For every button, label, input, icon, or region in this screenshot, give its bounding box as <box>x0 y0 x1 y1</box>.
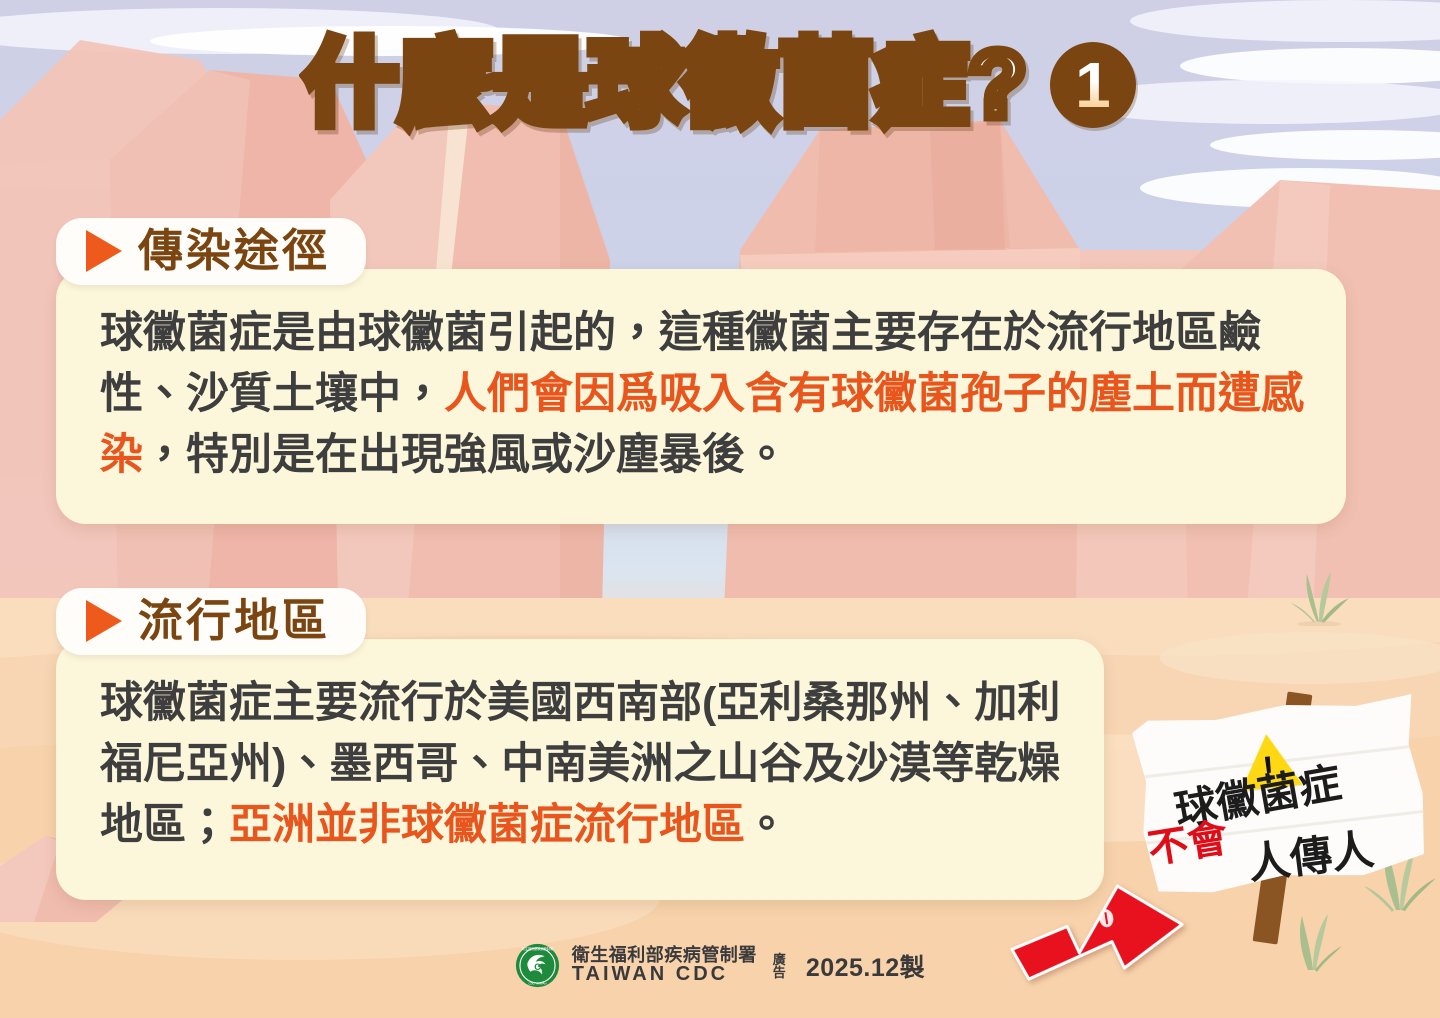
infographic-poster: 什麼是球黴菌症? 1 傳染途徑 球黴菌症是由球黴菌引起的，這種黴菌主要存在於流行… <box>0 0 1440 1018</box>
play-triangle-icon <box>86 230 122 272</box>
advertisement-label: 廣 告 <box>773 953 786 979</box>
section-tab-endemic[interactable]: 流行地區 <box>56 588 366 655</box>
svg-text:衛生福利部疾病管制署: 衛生福利部疾病管制署 <box>522 946 553 951</box>
page-title-row: 什麼是球黴菌症? 1 <box>0 38 1440 131</box>
ad-char-1: 廣 <box>773 953 786 966</box>
body-part-2: 。 <box>745 801 788 849</box>
play-triangle-icon <box>86 600 122 642</box>
agency-name-en: TAIWAN CDC <box>572 964 757 985</box>
section-tab-transmission[interactable]: 傳染途徑 <box>56 218 366 285</box>
body-part-2: ，特別是在出現強風或沙塵暴後。 <box>143 431 788 479</box>
agency-name-zh: 衛生福利部疾病管制署 <box>572 946 757 965</box>
section-card-endemic: 球黴菌症主要流行於美國西南部(亞利桑那州、加利福尼亞州)、墨西哥、中南美洲之山谷… <box>56 639 1104 900</box>
section-card-transmission: 球黴菌症是由球黴菌引起的，這種黴菌主要存在於流行地區鹼性、沙質土壤中，人們會因爲… <box>56 269 1346 524</box>
made-date: 2025.12製 <box>806 948 925 984</box>
ad-char-2: 告 <box>773 966 786 979</box>
agency-names: 衛生福利部疾病管制署 TAIWAN CDC <box>572 946 757 986</box>
svg-text:C: C <box>534 962 541 972</box>
section-body-transmission: 球黴菌症是由球黴菌引起的，這種黴菌主要存在於流行地區鹼性、沙質土壤中，人們會因爲… <box>100 303 1306 486</box>
badge-number-label: 1 <box>1075 53 1111 117</box>
warning-signboard: ! 球黴菌症 不會 人傳人 <box>1122 688 1440 938</box>
section-tab-label: 流行地區 <box>138 597 330 644</box>
section-body-endemic: 球黴菌症主要流行於美國西南部(亞利桑那州、加利福尼亞州)、墨西哥、中南美洲之山谷… <box>100 673 1064 856</box>
taiwan-cdc-logo-icon: C 衛生福利部疾病管制署 CDC TAIWAN <box>515 943 560 988</box>
badge-number: 1 <box>1050 42 1136 128</box>
svg-text:CDC TAIWAN: CDC TAIWAN <box>528 981 546 985</box>
section-transmission: 傳染途徑 球黴菌症是由球黴菌引起的，這種黴菌主要存在於流行地區鹼性、沙質土壤中，… <box>56 218 1346 524</box>
footer-credits: C 衛生福利部疾病管制署 CDC TAIWAN 衛生福利部疾病管制署 TAIWA… <box>0 943 1440 988</box>
section-tab-label: 傳染途徑 <box>138 227 330 274</box>
page-title: 什麼是球黴菌症? <box>304 38 1028 131</box>
body-highlight: 亞洲並非球黴菌症流行地區 <box>229 801 745 849</box>
